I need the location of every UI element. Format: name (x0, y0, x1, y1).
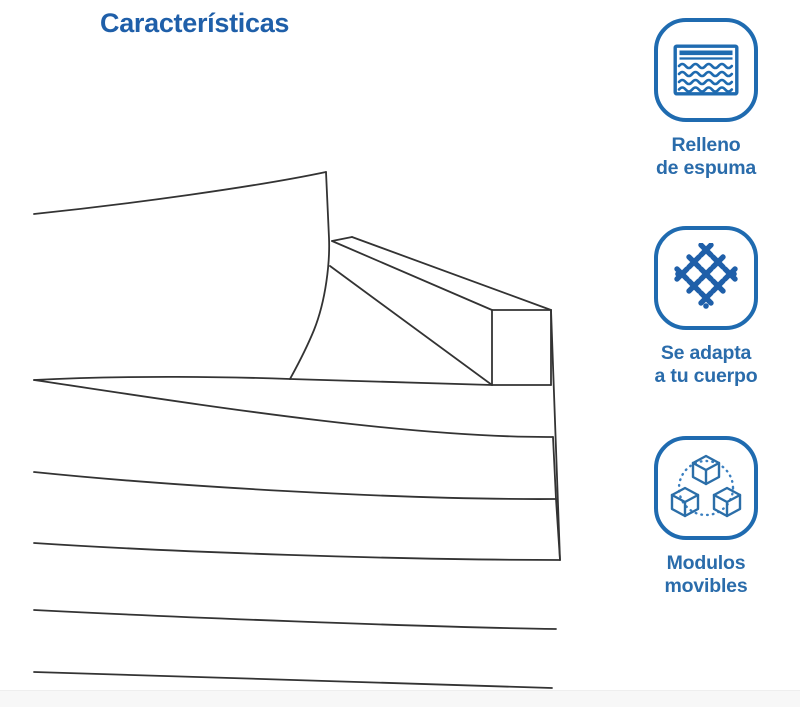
backrest-right-edge (290, 172, 329, 379)
seat-top-edge (290, 379, 492, 385)
weave-lattice-icon (671, 243, 741, 313)
feature-label: Modulos movibles (665, 552, 748, 598)
feature-item-se-adapta-a-tu-cuerpo[interactable]: Se adapta a tu cuerpo (612, 226, 800, 388)
armrest-top-left-edge (332, 237, 352, 241)
module-band-line-1 (34, 380, 553, 437)
foam-fill-icon (673, 44, 739, 96)
armrest-top-back-edge (352, 237, 551, 310)
feature-list: Relleno de espuma (612, 0, 800, 690)
armrest-top-front-edge (332, 241, 492, 310)
sofa-illustration (0, 0, 620, 707)
module-band-line-5 (34, 672, 552, 688)
module-band-line-2 (34, 472, 556, 499)
feature-icon-box (654, 436, 758, 540)
module-band-line-4 (34, 610, 556, 629)
sofa-outline-paths (34, 172, 560, 688)
feature-item-relleno-de-espuma[interactable]: Relleno de espuma (612, 18, 800, 180)
feature-label: Relleno de espuma (656, 134, 756, 180)
feature-icon-box (654, 18, 758, 122)
movable-modules-cubes-icon (670, 453, 742, 523)
backrest-top-edge (34, 172, 326, 214)
feature-label: Se adapta a tu cuerpo (655, 342, 758, 388)
module-band-line-3 (34, 543, 560, 560)
bottom-divider-strip (0, 690, 800, 707)
feature-icon-box (654, 226, 758, 330)
body-right-outer-edge (551, 310, 560, 560)
feature-item-modulos-movibles[interactable]: Modulos movibles (612, 436, 800, 598)
feature-section-page: Características (0, 0, 800, 707)
backrest-bottom-edge (34, 377, 290, 380)
armrest-inner-lower-edge (330, 266, 492, 385)
